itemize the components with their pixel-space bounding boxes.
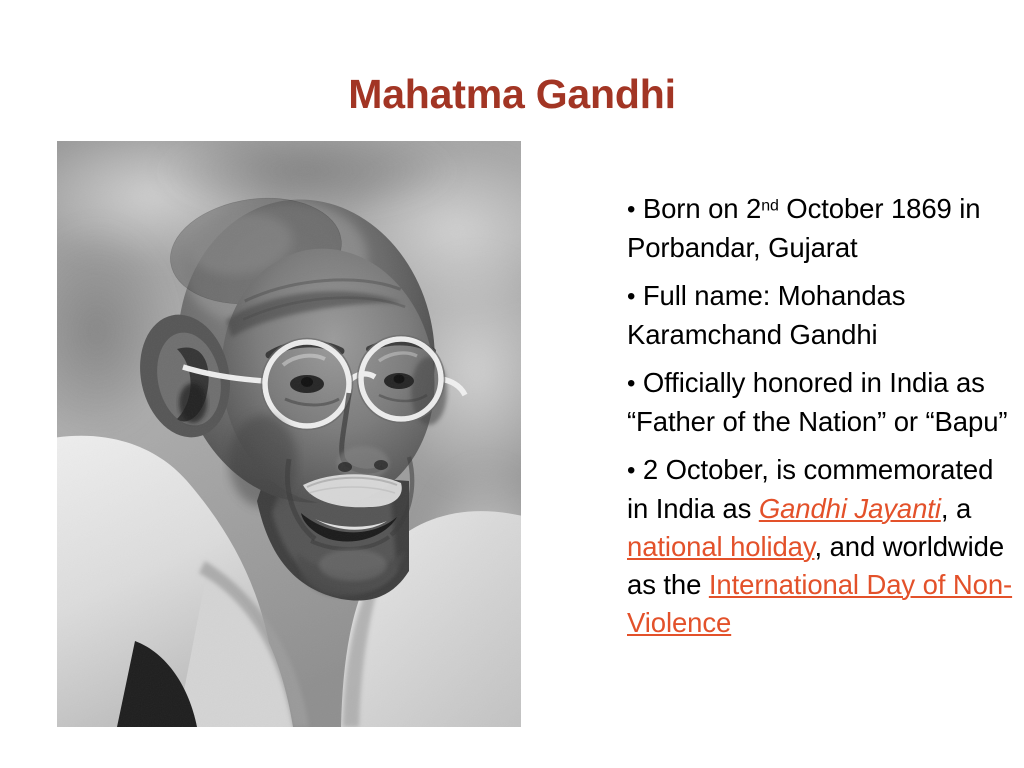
ordinal-suffix: nd: [761, 198, 779, 215]
list-item: • 2 October, is commemorated in India as…: [627, 451, 1017, 642]
link-national-holiday[interactable]: national holiday: [627, 531, 814, 562]
text-run: Born on 2: [635, 193, 761, 224]
text-run: Officially honored in India as “Father o…: [627, 367, 1007, 437]
mahatma-gandhi-portrait-image: [57, 141, 521, 727]
list-item: • Full name: Mohandas Karamchand Gandhi: [627, 277, 1017, 354]
bullet-list: • Born on 2nd October 1869 in Porbandar,…: [627, 190, 1017, 642]
page-title: Mahatma Gandhi: [0, 70, 1024, 118]
text-run: , a: [941, 493, 971, 524]
list-item: • Born on 2nd October 1869 in Porbandar,…: [627, 190, 1017, 267]
link-gandhi-jayanti[interactable]: Gandhi Jayanti: [759, 493, 941, 524]
presentation-slide: Mahatma Gandhi: [0, 0, 1024, 768]
text-run: Full name: Mohandas Karamchand Gandhi: [627, 280, 905, 350]
list-item: • Officially honored in India as “Father…: [627, 364, 1017, 441]
